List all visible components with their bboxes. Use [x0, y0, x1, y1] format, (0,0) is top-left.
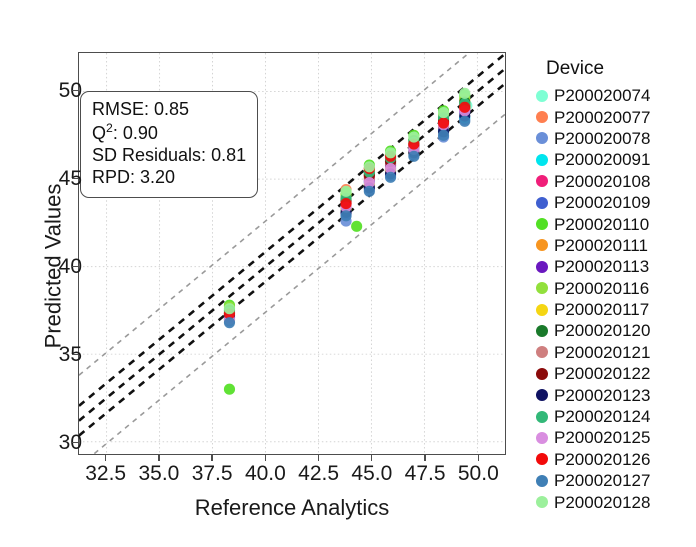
data-point	[385, 172, 396, 183]
legend-item[interactable]: P200020111	[536, 235, 694, 256]
legend-item[interactable]: P200020074	[536, 85, 694, 106]
legend-item[interactable]: P200020125	[536, 427, 694, 448]
legend-item[interactable]: P200020127	[536, 470, 694, 491]
stat-q2-value: 0.90	[123, 123, 158, 143]
data-point	[351, 221, 362, 232]
y-tick-mark	[72, 178, 78, 179]
legend-items: P200020074P200020077P200020078P200020091…	[536, 85, 694, 513]
legend-item-label: P200020078	[554, 130, 650, 147]
legend-item[interactable]: P200020077	[536, 106, 694, 127]
legend-item[interactable]: P200020121	[536, 342, 694, 363]
x-tick-label: 42.5	[298, 462, 339, 486]
data-point	[385, 147, 396, 158]
legend-item-label: P200020120	[554, 322, 650, 339]
legend-swatch-icon	[536, 261, 548, 273]
legend-item-label: P200020124	[554, 408, 650, 425]
y-tick-mark	[72, 266, 78, 267]
legend: Device P200020074P200020077P200020078P20…	[536, 58, 694, 513]
legend-title: Device	[546, 58, 694, 80]
y-tick-label: 35	[59, 343, 82, 367]
data-point	[459, 88, 470, 99]
legend-swatch-icon	[536, 282, 548, 294]
data-point	[438, 117, 449, 128]
data-point	[408, 131, 419, 142]
legend-item[interactable]: P200020116	[536, 278, 694, 299]
y-tick-label: 45	[59, 167, 82, 191]
legend-swatch-icon	[536, 411, 548, 423]
legend-item[interactable]: P200020122	[536, 363, 694, 384]
x-tick-mark	[318, 455, 319, 461]
stat-rmse-label: RMSE:	[92, 99, 149, 119]
y-tick-mark	[72, 442, 78, 443]
y-tick-label: 50	[59, 79, 82, 103]
x-tick-label: 50.0	[458, 462, 499, 486]
data-point	[438, 130, 449, 141]
legend-item-label: P200020121	[554, 344, 650, 361]
data-point	[224, 384, 235, 395]
x-tick-mark	[424, 455, 425, 461]
legend-swatch-icon	[536, 432, 548, 444]
stat-sd-residuals: SD Residuals: 0.81	[92, 145, 246, 167]
x-tick-label: 47.5	[405, 462, 446, 486]
legend-swatch-icon	[536, 197, 548, 209]
legend-swatch-icon	[536, 325, 548, 337]
legend-item[interactable]: P200020124	[536, 406, 694, 427]
legend-swatch-icon	[536, 132, 548, 144]
legend-item[interactable]: P200020110	[536, 213, 694, 234]
legend-swatch-icon	[536, 475, 548, 487]
stat-q2-label: Q2:	[92, 123, 118, 143]
legend-swatch-icon	[536, 239, 548, 251]
stat-rpd-value: 3.20	[140, 167, 175, 187]
stat-rmse-value: 0.85	[154, 99, 189, 119]
legend-item[interactable]: P200020126	[536, 449, 694, 470]
x-tick-mark	[211, 455, 212, 461]
legend-swatch-icon	[536, 175, 548, 187]
x-tick-mark	[158, 455, 159, 461]
stat-rpd: RPD: 3.20	[92, 167, 246, 189]
legend-swatch-icon	[536, 111, 548, 123]
y-tick-label: 30	[59, 431, 82, 455]
legend-item-label: P200020074	[554, 87, 650, 104]
legend-item-label: P200020127	[554, 472, 650, 489]
x-tick-label: 37.5	[192, 462, 233, 486]
stat-sd-value: 0.81	[211, 145, 246, 165]
legend-item-label: P200020110	[554, 216, 649, 233]
legend-item-label: P200020117	[554, 301, 649, 318]
legend-swatch-icon	[536, 346, 548, 358]
legend-item[interactable]: P200020113	[536, 256, 694, 277]
legend-item-label: P200020077	[554, 109, 650, 126]
x-tick-label: 35.0	[138, 462, 179, 486]
legend-item[interactable]: P200020108	[536, 171, 694, 192]
legend-swatch-icon	[536, 218, 548, 230]
legend-item-label: P200020125	[554, 429, 650, 446]
legend-item-label: P200020126	[554, 451, 650, 468]
stat-rpd-label: RPD:	[92, 167, 135, 187]
legend-item[interactable]: P200020091	[536, 149, 694, 170]
legend-item[interactable]: P200020109	[536, 192, 694, 213]
statistics-box: RMSE: 0.85 Q2: 0.90 SD Residuals: 0.81 R…	[80, 91, 258, 198]
data-point	[364, 186, 375, 197]
data-point	[459, 102, 470, 113]
data-point	[340, 198, 351, 209]
stat-rmse: RMSE: 0.85	[92, 99, 246, 121]
data-point	[224, 303, 235, 314]
legend-item-label: P200020111	[554, 237, 648, 254]
y-tick-label: 40	[59, 255, 82, 279]
x-tick-label: 40.0	[245, 462, 286, 486]
legend-swatch-icon	[536, 304, 548, 316]
legend-item-label: P200020116	[554, 280, 649, 297]
x-tick-mark	[478, 455, 479, 461]
legend-item[interactable]: P200020117	[536, 299, 694, 320]
legend-item[interactable]: P200020123	[536, 384, 694, 405]
legend-item-label: P200020091	[554, 151, 650, 168]
legend-swatch-icon	[536, 389, 548, 401]
legend-swatch-icon	[536, 453, 548, 465]
stat-q2: Q2: 0.90	[92, 121, 246, 145]
legend-item-label: P200020108	[554, 173, 650, 190]
legend-swatch-icon	[536, 90, 548, 102]
scatter-plot-figure: RMSE: 0.85 Q2: 0.90 SD Residuals: 0.81 R…	[0, 0, 696, 547]
legend-item-label: P200020113	[554, 258, 649, 275]
data-point	[340, 210, 351, 221]
legend-item-label: P200020123	[554, 387, 650, 404]
x-tick-label: 32.5	[85, 462, 126, 486]
legend-swatch-icon	[536, 154, 548, 166]
data-point	[340, 186, 351, 197]
data-point	[224, 317, 235, 328]
data-points	[224, 88, 473, 395]
legend-item[interactable]: P200020078	[536, 128, 694, 149]
stat-sd-label: SD Residuals:	[92, 145, 206, 165]
x-tick-mark	[371, 455, 372, 461]
y-tick-mark	[72, 90, 78, 91]
data-point	[408, 151, 419, 162]
data-point	[459, 116, 470, 127]
legend-item-label: P200020122	[554, 365, 650, 382]
legend-item[interactable]: P200020120	[536, 320, 694, 341]
legend-item-label: P200020128	[554, 494, 650, 511]
legend-swatch-icon	[536, 496, 548, 508]
y-tick-mark	[72, 354, 78, 355]
x-tick-mark	[105, 455, 106, 461]
x-axis-title: Reference Analytics	[78, 495, 506, 521]
legend-swatch-icon	[536, 368, 548, 380]
x-tick-label: 45.0	[351, 462, 392, 486]
data-point	[364, 161, 375, 172]
data-point	[438, 107, 449, 118]
x-tick-mark	[265, 455, 266, 461]
legend-item[interactable]: P200020128	[536, 491, 694, 512]
legend-item-label: P200020109	[554, 194, 650, 211]
